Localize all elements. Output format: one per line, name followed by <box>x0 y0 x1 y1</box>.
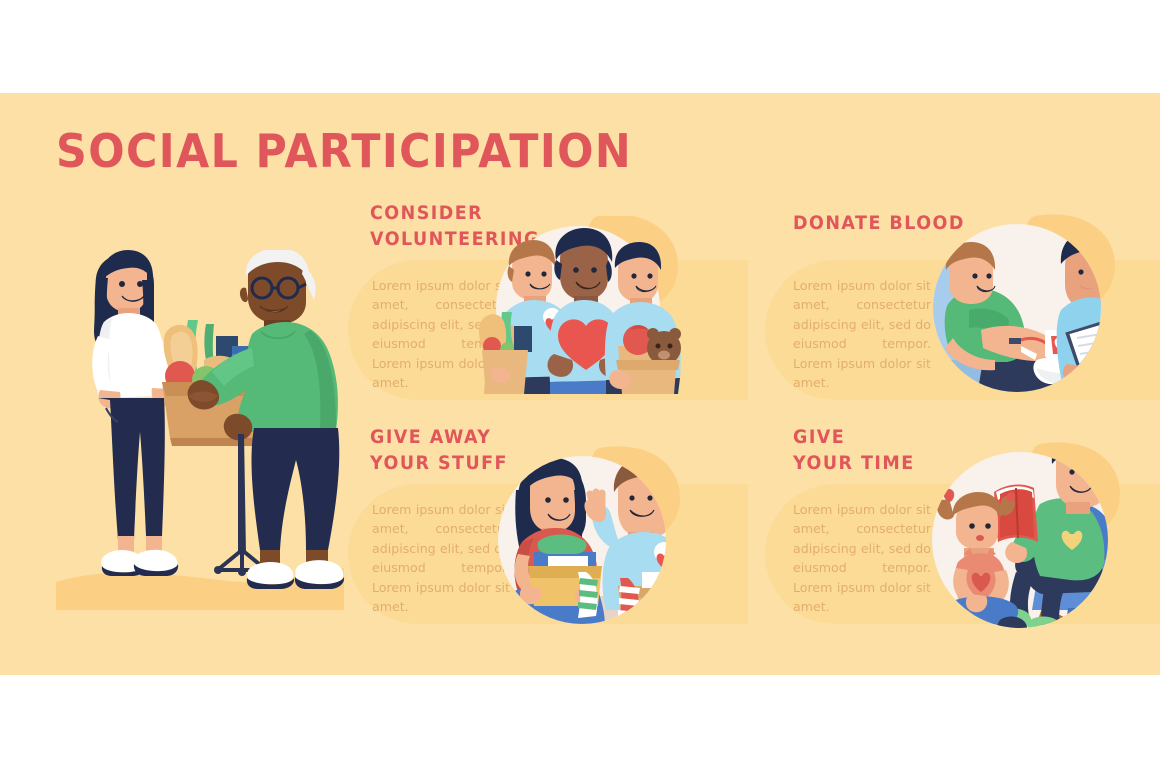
poster-canvas: SOCIAL PARTICIPATION <box>0 0 1160 772</box>
panel-title-give-your-time: GIVE YOUR TIME <box>793 424 915 476</box>
giveaway-svg <box>478 446 693 631</box>
hero-illustration-svg <box>48 250 348 620</box>
page-title: SOCIAL PARTICIPATION <box>56 127 632 175</box>
illustration-consider-volunteering <box>478 216 688 396</box>
panel-give-away-your-stuff: GIVE AWAY YOUR STUFF Lorem ipsum dolor s… <box>348 420 748 630</box>
panel-text-give-your-time: Lorem ipsum dolor sit amet, consectetur … <box>793 500 931 616</box>
illustration-donate-blood <box>925 214 1125 399</box>
panel-give-your-time: GIVE YOUR TIME Lorem ipsum dolor sit ame… <box>765 420 1160 630</box>
panel-text-donate-blood: Lorem ipsum dolor sit amet, consectetur … <box>793 276 931 392</box>
panel-consider-volunteering: CONSIDER VOLUNTEERING Lorem ipsum dolor … <box>348 196 748 396</box>
illustration-give-your-time <box>920 442 1130 642</box>
blood-donation-svg <box>925 214 1125 399</box>
illustration-give-away-your-stuff <box>478 446 693 631</box>
reading-to-child-svg <box>920 442 1130 642</box>
hero-illustration <box>48 250 348 620</box>
volunteers-svg <box>478 216 688 396</box>
panel-donate-blood: DONATE BLOOD Lorem ipsum dolor sit amet,… <box>765 196 1160 396</box>
